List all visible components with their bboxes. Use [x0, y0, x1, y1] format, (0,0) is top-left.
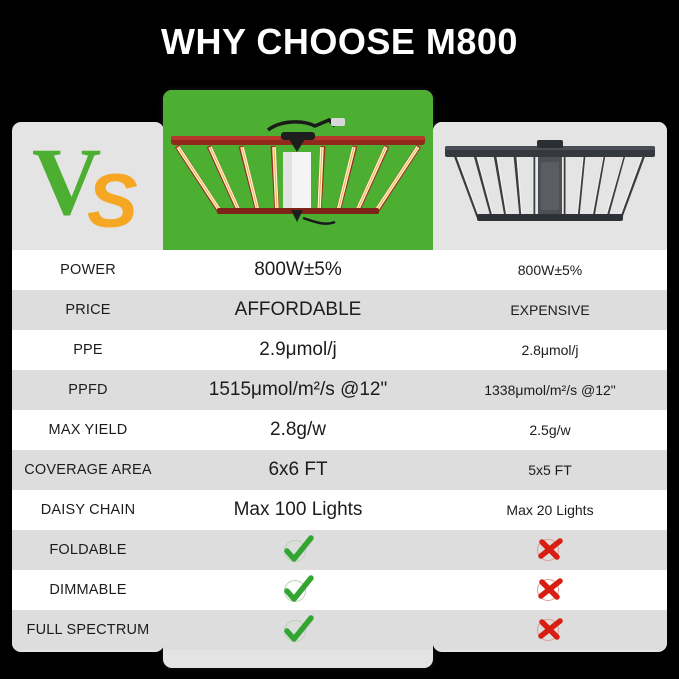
featured-value: Max 100 Lights [234, 499, 363, 521]
table-row: 2.8μmol/j [433, 330, 667, 370]
competitor-value: EXPENSIVE [510, 302, 589, 318]
competitor-mark-cell [535, 616, 565, 644]
featured-value: 1515μmol/m²/s @12" [209, 379, 388, 401]
table-row [163, 610, 433, 650]
table-row [163, 530, 433, 570]
vs-letter-s: S [87, 164, 138, 240]
competitor-mark-cell [535, 576, 565, 604]
check-icon [281, 535, 315, 565]
page-title: WHY CHOOSE M800 [0, 20, 679, 64]
table-row: FULL SPECTRUM [12, 610, 164, 650]
table-row: MAX YIELD [12, 410, 164, 450]
row-label: FULL SPECTRUM [27, 622, 150, 638]
m800-light-svg [163, 90, 433, 250]
cross-icon [535, 576, 565, 604]
featured-column-panel: 800W±5%AFFORDABLE2.9μmol/j1515μmol/m²/s … [163, 90, 433, 668]
table-row: 800W±5% [163, 250, 433, 290]
featured-value: AFFORDABLE [235, 299, 362, 321]
table-row: Max 100 Lights [163, 490, 433, 530]
check-icon [281, 615, 315, 645]
table-row: PPFD [12, 370, 164, 410]
row-label: DIMMABLE [49, 582, 126, 598]
table-row: PRICE [12, 290, 164, 330]
table-row: 1515μmol/m²/s @12" [163, 370, 433, 410]
row-label: FOLDABLE [49, 542, 126, 558]
table-row [433, 570, 667, 610]
vs-logo: V S [12, 122, 164, 250]
check-icon [281, 575, 315, 605]
table-row: Max 20 Lights [433, 490, 667, 530]
featured-value: 800W±5% [254, 259, 342, 281]
table-row [433, 610, 667, 650]
table-row: 2.8g/w [163, 410, 433, 450]
row-label: POWER [60, 262, 116, 278]
row-label: PRICE [65, 302, 110, 318]
competitor-value: 5x5 FT [528, 462, 572, 478]
table-row: 800W±5% [433, 250, 667, 290]
table-row: COVERAGE AREA [12, 450, 164, 490]
table-row: 2.9μmol/j [163, 330, 433, 370]
competitor-value: 2.5g/w [529, 422, 570, 438]
table-row: DIMMABLE [12, 570, 164, 610]
table-row: AFFORDABLE [163, 290, 433, 330]
competitor-value: 800W±5% [518, 262, 583, 278]
cross-icon [535, 616, 565, 644]
featured-mark-cell [281, 615, 315, 645]
featured-mark-cell [281, 575, 315, 605]
featured-value: 6x6 FT [268, 459, 327, 481]
competitor-value: 2.8μmol/j [521, 342, 578, 358]
featured-mark-cell [281, 535, 315, 565]
row-label: PPE [73, 342, 103, 358]
row-label: COVERAGE AREA [24, 462, 152, 478]
featured-value: 2.8g/w [270, 419, 326, 441]
table-row: 6x6 FT [163, 450, 433, 490]
table-row: FOLDABLE [12, 530, 164, 570]
competitor-mark-cell [535, 536, 565, 564]
competitor-value: Max 20 Lights [506, 502, 593, 518]
competitor-column-rows: 800W±5%EXPENSIVE2.8μmol/j1338μmol/m²/s @… [433, 250, 667, 650]
m800-grow-light-image [163, 90, 433, 250]
table-row [163, 570, 433, 610]
cross-icon [535, 536, 565, 564]
table-row: 1338μmol/m²/s @12" [433, 370, 667, 410]
competitor-column-panel: 800W±5%EXPENSIVE2.8μmol/j1338μmol/m²/s @… [433, 122, 667, 652]
table-row: EXPENSIVE [433, 290, 667, 330]
featured-value: 2.9μmol/j [259, 339, 336, 361]
table-row: POWER [12, 250, 164, 290]
row-label: PPFD [68, 382, 107, 398]
table-row: 2.5g/w [433, 410, 667, 450]
row-label: MAX YIELD [49, 422, 128, 438]
row-label: DAISY CHAIN [41, 502, 136, 518]
competitor-light-svg [433, 122, 667, 244]
featured-column-rows: 800W±5%AFFORDABLE2.9μmol/j1515μmol/m²/s … [163, 250, 433, 650]
infographic-root: WHY CHOOSE M800 POWERPRICEPPEPPFDMAX YIE… [0, 0, 679, 679]
competitor-grow-light-image [433, 122, 667, 244]
label-column-rows: POWERPRICEPPEPPFDMAX YIELDCOVERAGE AREAD… [12, 250, 164, 650]
table-row [433, 530, 667, 570]
table-row: 5x5 FT [433, 450, 667, 490]
table-row: DAISY CHAIN [12, 490, 164, 530]
table-row: PPE [12, 330, 164, 370]
competitor-value: 1338μmol/m²/s @12" [484, 382, 616, 398]
